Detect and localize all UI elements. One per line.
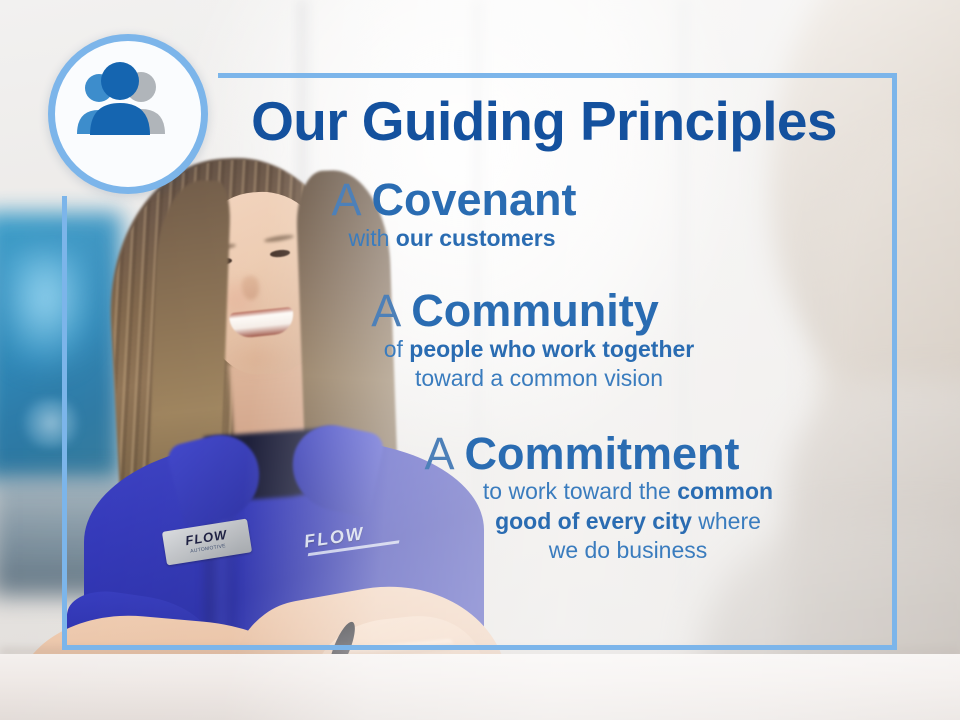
guiding-principles-graphic: FLOW AUTOMOTIVE FLOW (0, 0, 960, 720)
principle-article: A (371, 285, 411, 336)
principle-subtext-bold: common (677, 478, 773, 504)
principle-subtext-plain: with (348, 225, 395, 251)
principle-covenant: A Covenant with our customers (200, 176, 890, 253)
principle-subtext-line: good of every city where (366, 507, 890, 536)
principle-heading: A Community (200, 287, 830, 335)
principle-keyword: Covenant (372, 174, 577, 225)
principle-subtext: to work toward the common good of every … (274, 477, 890, 565)
principle-subtext-line: to work toward the common (366, 477, 890, 506)
principle-subtext-bold: good of every city (495, 508, 692, 534)
principle-subtext-line: toward a common vision (248, 364, 830, 393)
principles-list: A Covenant with our customers A Communit… (200, 176, 890, 572)
principle-heading: A Commitment (274, 430, 890, 478)
principle-subtext-bold: people who work together (409, 336, 694, 362)
principle-subtext: with our customers (200, 224, 708, 253)
frame-left-edge (62, 196, 67, 650)
people-badge (48, 34, 208, 194)
principle-subtext-plain: where (692, 508, 761, 534)
principle-subtext-line: we do business (366, 536, 890, 565)
principle-subtext-bold: our customers (396, 225, 556, 251)
principle-commitment: A Commitment to work toward the common g… (200, 430, 890, 566)
page-title: Our Guiding Principles (214, 94, 874, 149)
principle-article: A (424, 428, 464, 479)
principle-subtext-plain: of (384, 336, 410, 362)
people-group-icon (55, 41, 187, 173)
principle-keyword: Community (411, 285, 659, 336)
principle-subtext-plain: to work toward the (483, 478, 677, 504)
principle-community: A Community of people who work together … (200, 287, 890, 394)
frame-right-edge (892, 73, 897, 650)
principle-subtext-line: of people who work together (248, 335, 830, 364)
frame-bottom-edge (62, 645, 897, 650)
frame-top-edge (218, 73, 897, 78)
principle-keyword: Commitment (465, 428, 740, 479)
principle-subtext: of people who work together toward a com… (200, 335, 830, 394)
principle-article: A (331, 174, 371, 225)
principle-heading: A Covenant (200, 176, 708, 224)
